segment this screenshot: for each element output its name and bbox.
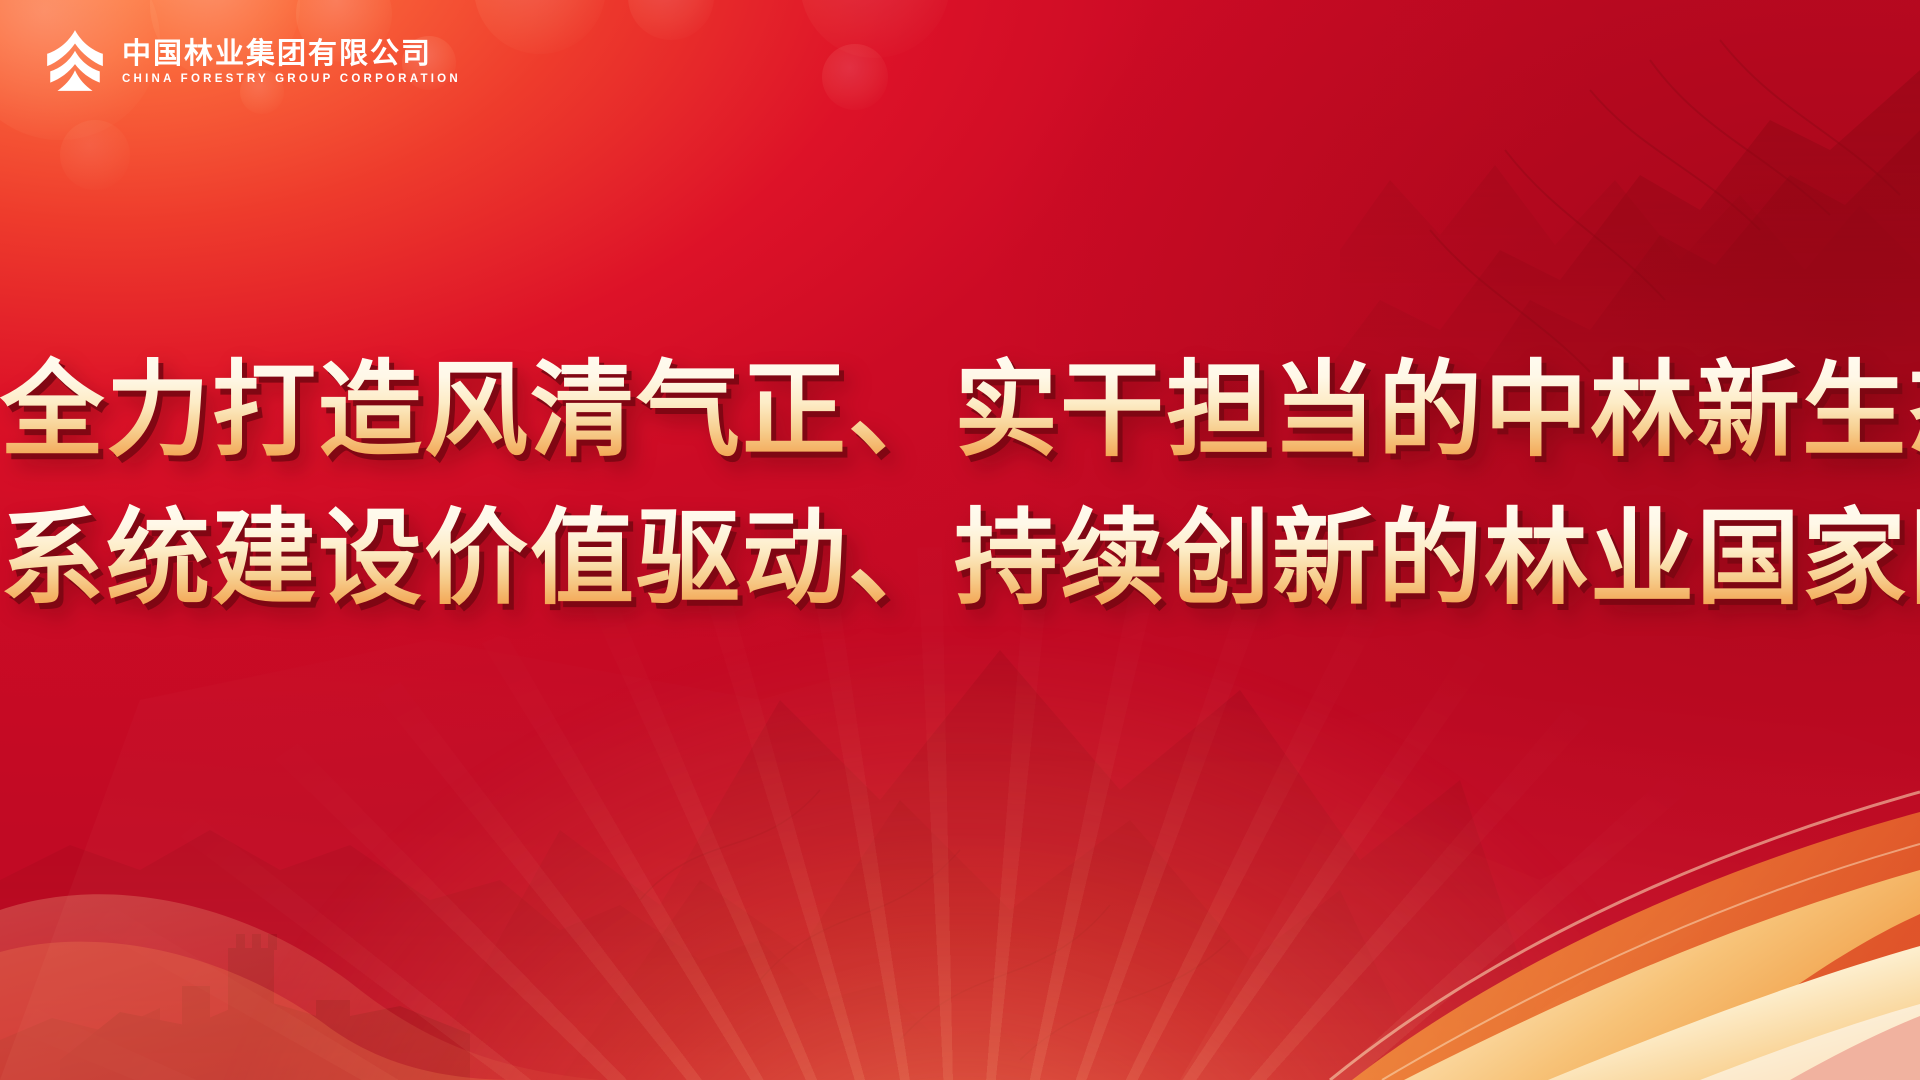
- brand-logo[interactable]: 中国林业集团有限公司 CHINA FORESTRY GROUP CORPORAT…: [44, 28, 461, 94]
- brand-logo-text: 中国林业集团有限公司 CHINA FORESTRY GROUP CORPORAT…: [122, 36, 461, 86]
- forestry-pagoda-mark-icon: [44, 28, 106, 94]
- brand-name-en: CHINA FORESTRY GROUP CORPORATION: [122, 74, 461, 86]
- brand-name-cn: 中国林业集团有限公司: [122, 40, 461, 69]
- headline-block: 全力打造风清气正、实干担当的中林新生态 系统建设价值驱动、持续创新的林业国家队: [0, 338, 1920, 633]
- headline-line-1: 全力打造风清气正、实干担当的中林新生态: [0, 338, 1920, 486]
- headline-line-2: 系统建设价值驱动、持续创新的林业国家队: [0, 486, 1920, 634]
- banner-canvas: 中国林业集团有限公司 CHINA FORESTRY GROUP CORPORAT…: [0, 0, 1920, 1080]
- bottom-glow: [210, 640, 1710, 1080]
